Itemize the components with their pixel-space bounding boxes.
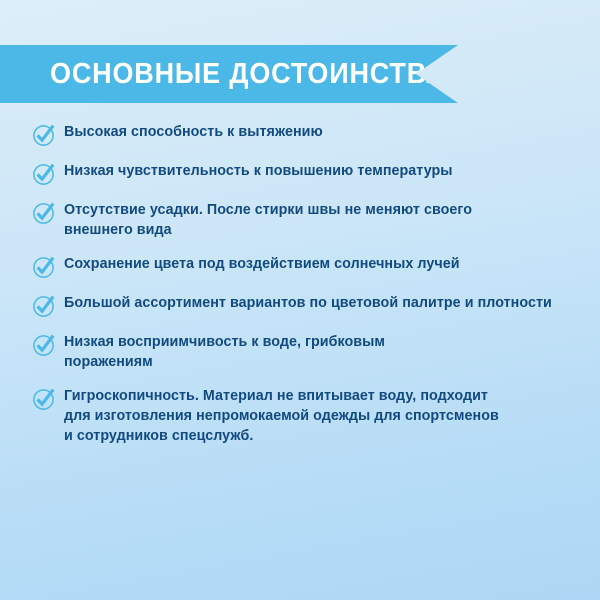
list-item-line: Сохранение цвета под воздействием солнеч… xyxy=(64,254,460,274)
check-circle-icon xyxy=(32,387,56,411)
list-item-line: Низкая восприимчивость к воде, грибковым xyxy=(64,332,385,352)
benefits-list: Высокая способность к вытяжениюНизкая чу… xyxy=(32,120,582,458)
infographic-page: ОСНОВНЫЕ ДОСТОИНСТВА Высокая способность… xyxy=(0,0,600,600)
list-item-label: Низкая восприимчивость к воде, грибковым… xyxy=(64,330,385,372)
check-circle-icon xyxy=(32,162,56,186)
check-circle-icon xyxy=(32,255,56,279)
list-item-label: Большой ассортимент вариантов по цветово… xyxy=(64,291,552,313)
list-item-line: Отсутствие усадки. После стирки швы не м… xyxy=(64,200,472,220)
list-item: Низкая восприимчивость к воде, грибковым… xyxy=(32,330,582,372)
check-circle-icon xyxy=(32,333,56,357)
list-item: Низкая чувствительность к повышению темп… xyxy=(32,159,582,186)
list-item-label: Гигроскопичность. Материал не впитывает … xyxy=(64,384,499,446)
list-item-label: Сохранение цвета под воздействием солнеч… xyxy=(64,252,460,274)
page-title: ОСНОВНЫЕ ДОСТОИНСТВА xyxy=(50,60,446,89)
check-circle-icon xyxy=(32,294,56,318)
list-item-line: Гигроскопичность. Материал не впитывает … xyxy=(64,386,499,406)
list-item-line: Высокая способность к вытяжению xyxy=(64,122,323,142)
list-item-line: и сотрудников спецслужб. xyxy=(64,426,499,446)
list-item-line: для изготовления непромокаемой одежды дл… xyxy=(64,406,499,426)
list-item: Высокая способность к вытяжению xyxy=(32,120,582,147)
list-item-line: поражениям xyxy=(64,352,385,372)
check-circle-icon xyxy=(32,201,56,225)
header-banner: ОСНОВНЫЕ ДОСТОИНСТВА xyxy=(0,45,458,103)
list-item-label: Отсутствие усадки. После стирки швы не м… xyxy=(64,198,472,240)
check-circle-icon xyxy=(32,123,56,147)
list-item-label: Низкая чувствительность к повышению темп… xyxy=(64,159,453,181)
list-item-line: внешнего вида xyxy=(64,220,472,240)
list-item-label: Высокая способность к вытяжению xyxy=(64,120,323,142)
list-item: Сохранение цвета под воздействием солнеч… xyxy=(32,252,582,279)
list-item: Отсутствие усадки. После стирки швы не м… xyxy=(32,198,582,240)
list-item-line: Большой ассортимент вариантов по цветово… xyxy=(64,293,552,313)
list-item: Большой ассортимент вариантов по цветово… xyxy=(32,291,582,318)
list-item: Гигроскопичность. Материал не впитывает … xyxy=(32,384,582,446)
list-item-line: Низкая чувствительность к повышению темп… xyxy=(64,161,453,181)
